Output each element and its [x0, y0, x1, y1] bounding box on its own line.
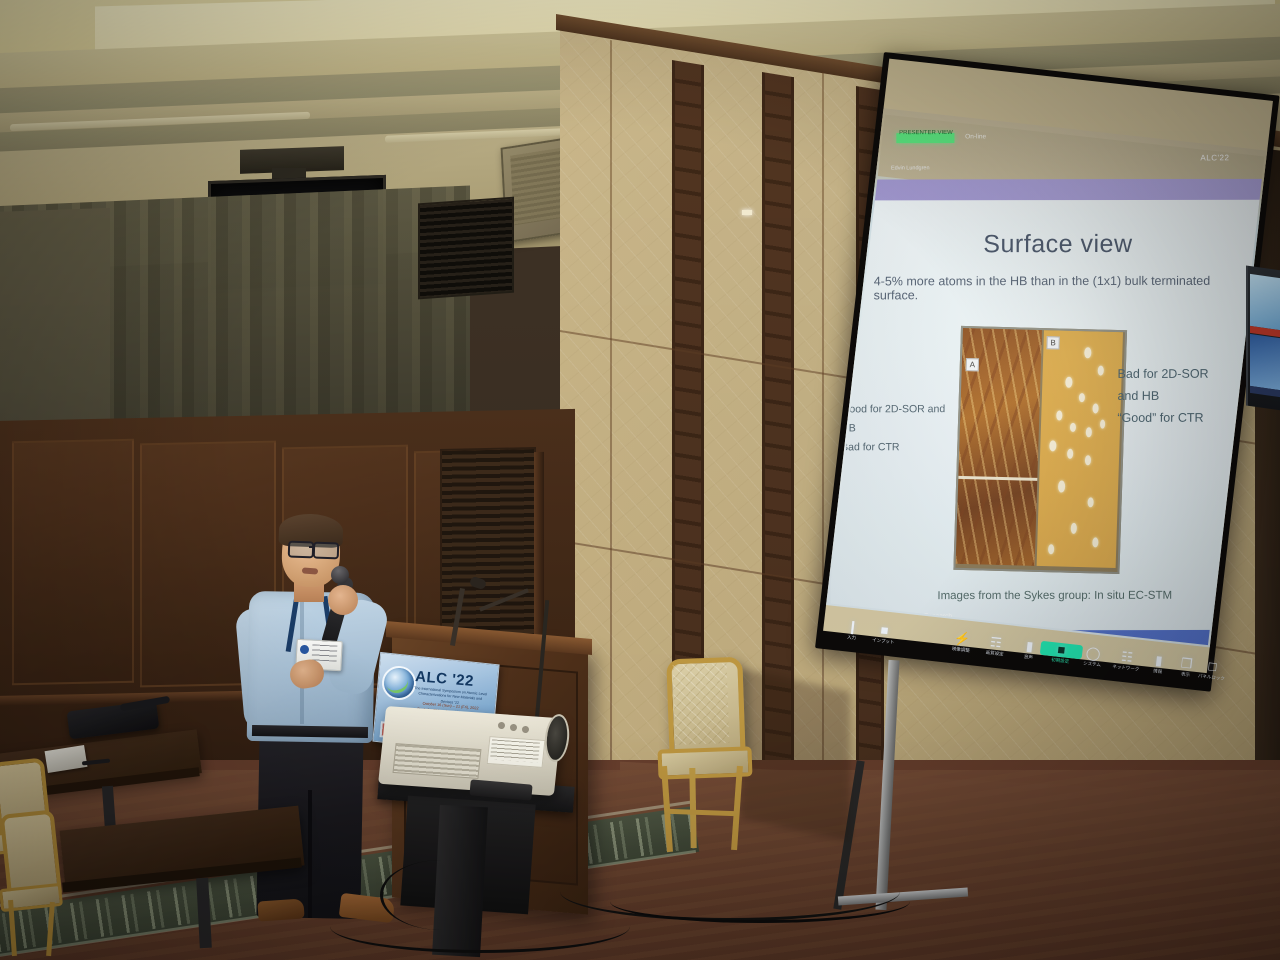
- wood-lattice-strip: [762, 72, 794, 777]
- wood-panel: [12, 439, 134, 686]
- projection-light-falloff: [826, 108, 1267, 647]
- chair-upholstery-pattern: [673, 663, 730, 745]
- presenter-trouser-seam: [308, 790, 312, 918]
- auxiliary-display-image-top: [1250, 274, 1280, 330]
- osd-item-8[interactable]: □ パネルロック: [1190, 657, 1234, 682]
- presenter-belt: [252, 725, 368, 738]
- floor-cable: [610, 880, 910, 923]
- eyeglasses-bridge: [309, 546, 315, 548]
- wall-panel-seam: [822, 72, 824, 792]
- wall-panel-seam: [610, 40, 612, 760]
- wall-indicator-led: [742, 210, 752, 215]
- presenter-mouth: [302, 567, 318, 574]
- osd-group-left-item[interactable]: ■ インプット: [862, 621, 906, 646]
- eyeglasses-lens-left: [288, 541, 315, 559]
- badge-text-lines: [312, 644, 338, 661]
- conference-room-photo: PRESENTER VIEW On-line ALC'22 Edvin Lund…: [0, 0, 1280, 960]
- floor-cable: [380, 860, 503, 930]
- projector-vent-grille: [393, 743, 482, 779]
- auxiliary-display-image-bottom: [1250, 334, 1280, 390]
- projection-screen: PRESENTER VIEW On-line ALC'22 Edvin Lund…: [813, 52, 1280, 712]
- presenter-shoe-left: [257, 898, 304, 921]
- eyeglasses-lens-right: [313, 542, 340, 560]
- presenter-hand-right: [328, 585, 358, 615]
- chair-shadow: [740, 668, 850, 841]
- projector-label-text: [490, 739, 540, 762]
- wall-vent-grille: [418, 197, 514, 300]
